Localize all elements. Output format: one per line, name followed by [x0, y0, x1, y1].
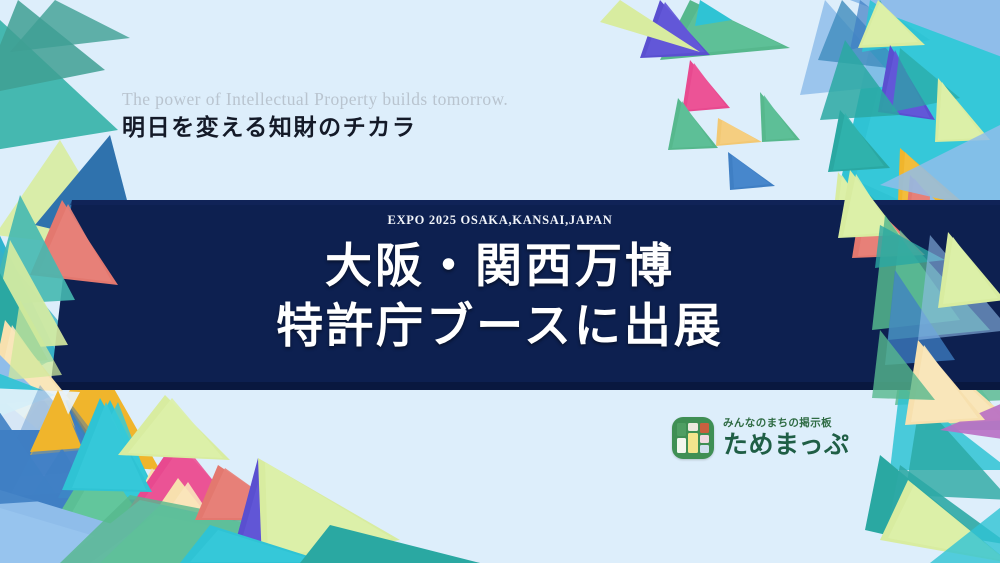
- navy-band-shadow: [50, 382, 1000, 390]
- headline-line-1: 大阪・関西万博: [0, 237, 1000, 297]
- logo-brand-name: ためまっぷ: [723, 432, 850, 458]
- logo-tile-3: [688, 433, 698, 453]
- tagline-japanese: 明日を変える知財のチカラ: [122, 115, 682, 141]
- bulletin-board-icon: [672, 417, 714, 459]
- logo-text-group: みんなのまちの掲示板 ためまっぷ: [723, 418, 850, 458]
- headline-line-2: 特許庁ブースに出展: [0, 297, 1000, 357]
- logo-tile-1: [677, 438, 686, 453]
- logo-tile-6: [700, 445, 709, 453]
- logo-tile-0: [677, 423, 686, 436]
- logo-tile-4: [700, 423, 709, 433]
- logo-tagline: みんなのまちの掲示板: [723, 418, 850, 430]
- tamemap-logo[interactable]: みんなのまちの掲示板 ためまっぷ: [672, 417, 850, 459]
- promo-banner: The power of Intellectual Property build…: [0, 0, 1000, 563]
- logo-tile-2: [688, 423, 698, 431]
- headline-block: EXPO 2025 OSAKA,KANSAI,JAPAN 大阪・関西万博 特許庁…: [0, 214, 1000, 357]
- tagline-english: The power of Intellectual Property build…: [122, 90, 682, 109]
- expo-label: EXPO 2025 OSAKA,KANSAI,JAPAN: [0, 214, 1000, 227]
- tagline-block: The power of Intellectual Property build…: [122, 90, 682, 142]
- logo-tile-5: [700, 435, 709, 443]
